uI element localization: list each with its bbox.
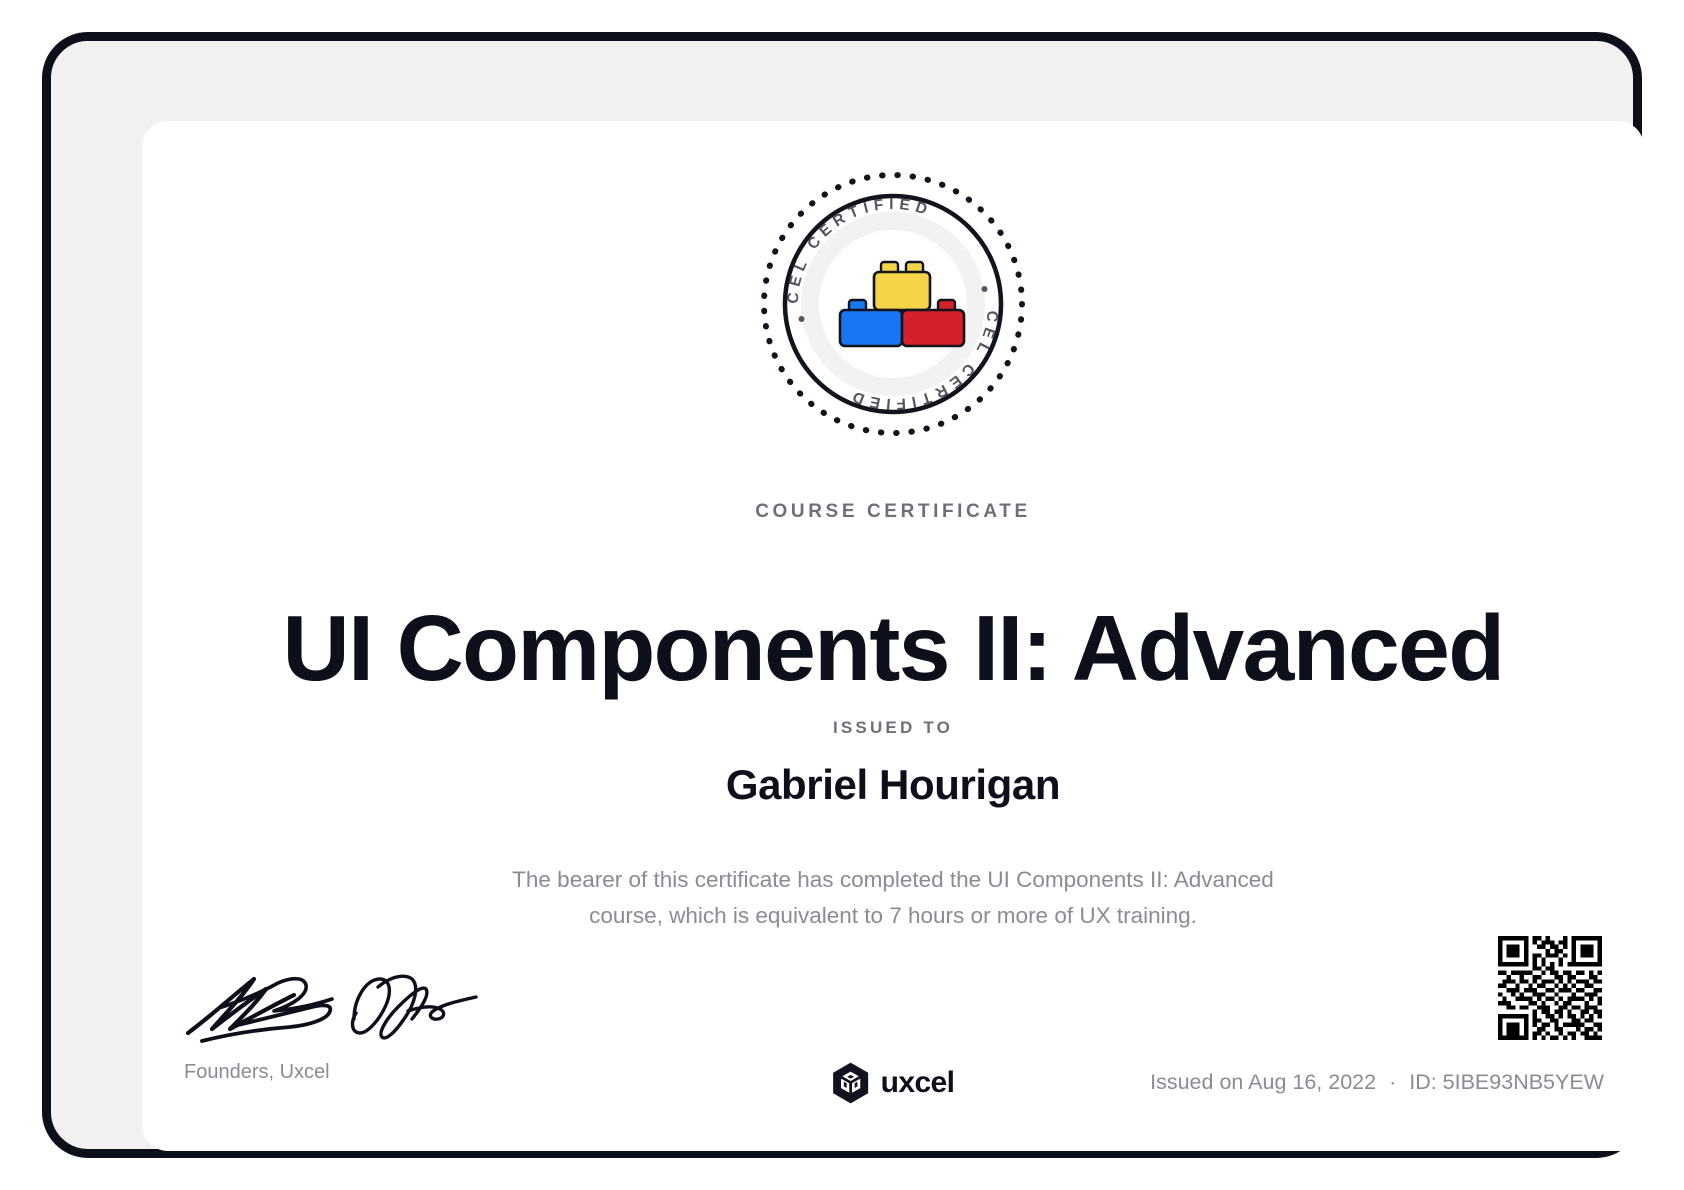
verification-qr-code[interactable] xyxy=(1498,936,1602,1040)
issued-on-text: Issued on Aug 16, 2022 xyxy=(1150,1070,1376,1094)
certificate-type-label: COURSE CERTIFICATE xyxy=(142,501,1644,523)
certificate-frame: UXCEL CERTIFIED UXCEL CERTIFIED xyxy=(42,32,1642,1158)
certificate-description: The bearer of this certificate has compl… xyxy=(478,862,1308,935)
uxcel-wordmark: uxcel xyxy=(881,1066,955,1100)
issued-to-label: ISSUED TO xyxy=(142,718,1644,738)
course-title: UI Components II: Advanced xyxy=(142,598,1644,698)
uxcel-logo: uxcel xyxy=(832,1062,955,1104)
uxcel-certified-seal: UXCEL CERTIFIED UXCEL CERTIFIED xyxy=(753,164,1033,444)
qr-code-image xyxy=(1498,936,1602,1040)
signature-block: Founders, Uxcel xyxy=(182,971,542,1084)
issue-metadata: Issued on Aug 16, 2022 · ID: 5IBE93NB5YE… xyxy=(1150,1070,1604,1095)
certificate-card: UXCEL CERTIFIED UXCEL CERTIFIED xyxy=(142,121,1644,1151)
founder-signatures-icon xyxy=(182,971,482,1049)
signature-caption: Founders, Uxcel xyxy=(182,1061,542,1084)
uxcel-hexagon-cube-icon xyxy=(832,1062,870,1104)
certificate-id-text: ID: 5IBE93NB5YEW xyxy=(1409,1070,1604,1094)
meta-separator: · xyxy=(1382,1070,1403,1094)
recipient-name: Gabriel Hourigan xyxy=(142,761,1644,809)
